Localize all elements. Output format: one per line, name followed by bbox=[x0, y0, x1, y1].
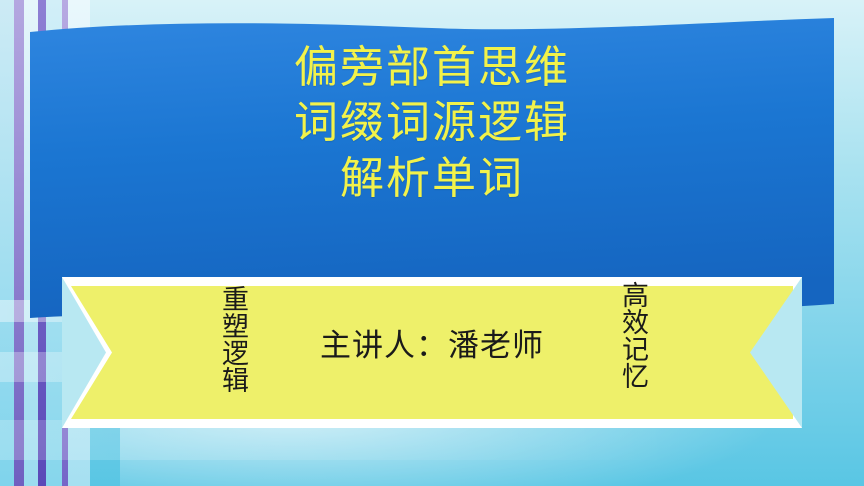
page-title: 偏旁部首思维 词缀词源逻辑 解析单词 bbox=[30, 40, 834, 206]
background-stripe-2 bbox=[14, 0, 24, 486]
presenter-name: 主讲人：潘老师 bbox=[62, 320, 802, 365]
title-line-3: 解析单词 bbox=[30, 151, 834, 206]
title-line-2: 词缀词源逻辑 bbox=[30, 95, 834, 150]
slide-canvas: 偏旁部首思维 词缀词源逻辑 解析单词 重塑逻辑 主讲人：潘老师 高效记忆 bbox=[0, 0, 864, 486]
title-line-1: 偏旁部首思维 bbox=[30, 40, 834, 95]
right-tagline: 高效记忆 bbox=[612, 281, 646, 389]
background-stripe-1 bbox=[0, 0, 14, 486]
